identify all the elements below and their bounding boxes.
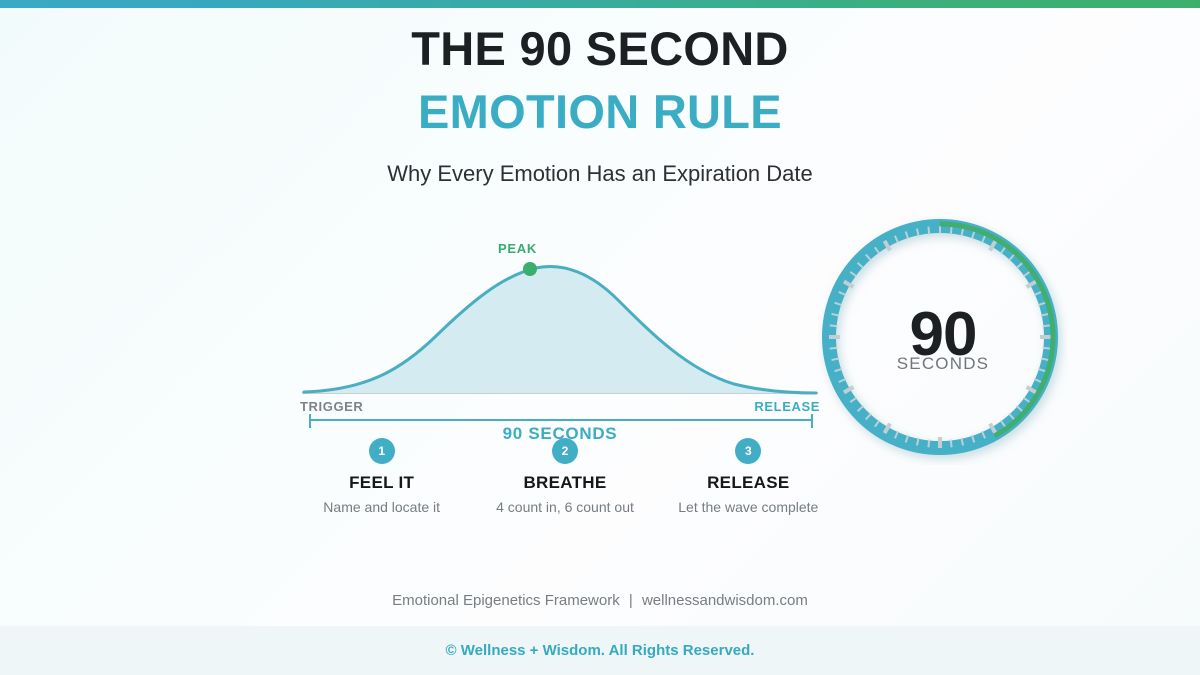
page-title-line-1: THE 90 SECOND (0, 20, 1200, 78)
countdown-timer-dial: 90 SECONDS (818, 215, 1068, 465)
peak-marker-dot (523, 262, 537, 276)
timer-unit-label: SECONDS (897, 355, 989, 372)
step-item-2: 2 BREATHE 4 count in, 6 count out (473, 438, 656, 516)
top-accent-bar (0, 0, 1200, 8)
wave-trigger-label: TRIGGER (300, 399, 363, 414)
page-subtitle: Why Every Emotion Has an Expiration Date (0, 160, 1200, 188)
website-label[interactable]: wellnessandwisdom.com (642, 592, 808, 609)
emotion-wave-chart: PEAK TRIGGER RELEASE 90 SECONDS (296, 232, 824, 432)
step-title-1: FEEL IT (290, 472, 473, 493)
step-description-1: Name and locate it (290, 498, 473, 516)
framework-label: Emotional Epigenetics Framework (392, 592, 620, 609)
attribution-line: Emotional Epigenetics Framework | wellne… (0, 592, 1200, 609)
step-number-badge-3: 3 (735, 438, 761, 464)
wave-release-label: RELEASE (754, 399, 820, 414)
timer-readout: 90 SECONDS (818, 215, 1068, 465)
step-title-3: RELEASE (657, 472, 840, 493)
attribution-separator: | (629, 592, 633, 609)
step-item-1: 1 FEEL IT Name and locate it (290, 438, 473, 516)
wave-curve-svg (296, 232, 824, 432)
step-item-3: 3 RELEASE Let the wave complete (657, 438, 840, 516)
step-description-2: 4 count in, 6 count out (473, 498, 656, 516)
timer-value: 90 (910, 309, 977, 361)
page-title-line-2: EMOTION RULE (0, 83, 1200, 141)
footer-bar: © Wellness + Wisdom. All Rights Reserved… (0, 626, 1200, 675)
wave-area-fill (304, 266, 816, 393)
wave-peak-label: PEAK (498, 241, 537, 256)
step-number-badge-1: 1 (369, 438, 395, 464)
steps-list: 1 FEEL IT Name and locate it 2 BREATHE 4… (290, 438, 840, 516)
copyright-text: © Wellness + Wisdom. All Rights Reserved… (446, 642, 755, 659)
step-description-3: Let the wave complete (657, 498, 840, 516)
header: THE 90 SECOND EMOTION RULE Why Every Emo… (0, 8, 1200, 188)
step-number-badge-2: 2 (552, 438, 578, 464)
step-title-2: BREATHE (473, 472, 656, 493)
